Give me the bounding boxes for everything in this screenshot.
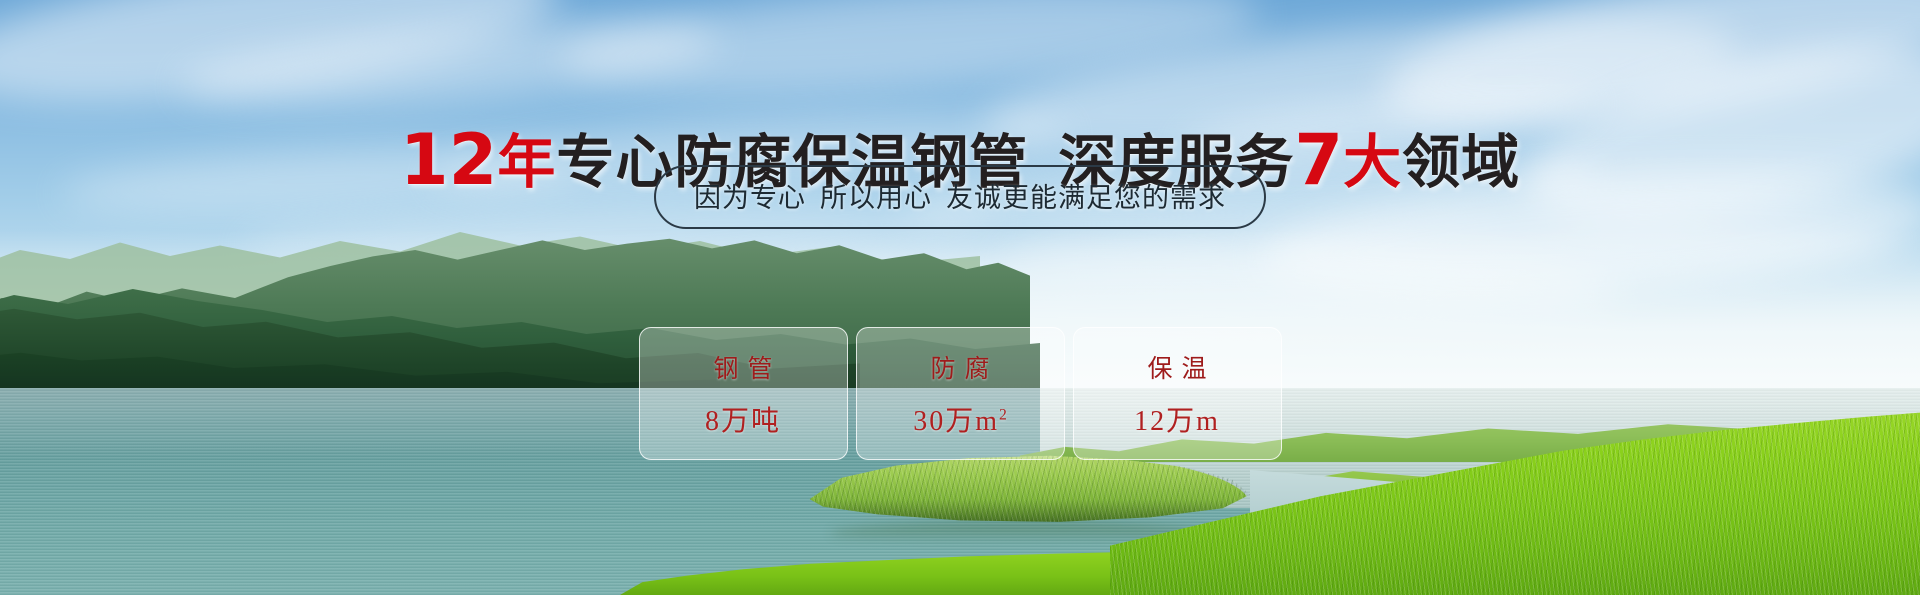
subtitle-part-3: 友诚更能满足您的需求	[946, 183, 1226, 213]
stat-card-steel-pipe[interactable]: 钢管 8万吨	[639, 327, 848, 460]
stat-card-anticorrosion[interactable]: 防腐 30万m2	[856, 327, 1065, 460]
stat-card-label: 保温	[1138, 349, 1215, 385]
hero-banner: 12年专心防腐保温钢管深度服务7大领域 因为专心所以用心友诚更能满足您的需求 钢…	[0, 0, 1920, 595]
stat-card-label: 钢管	[704, 349, 781, 385]
stat-card-value: 8万吨	[705, 399, 781, 439]
stat-card-label: 防腐	[921, 349, 998, 385]
stat-card-insulation[interactable]: 保温 12万m	[1073, 327, 1282, 460]
stat-card-value-superscript: 2	[999, 406, 1007, 423]
stat-card-value-text: 8万吨	[705, 406, 781, 437]
subtitle-part-1: 因为专心	[694, 183, 806, 213]
stat-card-value: 30万m2	[913, 399, 1007, 439]
subtitle-pill: 因为专心所以用心友诚更能满足您的需求	[654, 165, 1266, 229]
stat-card-group: 钢管 8万吨 防腐 30万m2 保温 12万m	[0, 327, 1920, 460]
stat-card-value-text: 30万m	[913, 406, 999, 437]
stat-card-value: 12万m	[1134, 399, 1220, 439]
stat-card-value-text: 12万m	[1134, 406, 1220, 437]
subtitle-part-2: 所以用心	[820, 183, 932, 213]
banner-content: 12年专心防腐保温钢管深度服务7大领域 因为专心所以用心友诚更能满足您的需求 钢…	[0, 0, 1920, 595]
subtitle-pill-wrapper: 因为专心所以用心友诚更能满足您的需求	[0, 165, 1920, 229]
